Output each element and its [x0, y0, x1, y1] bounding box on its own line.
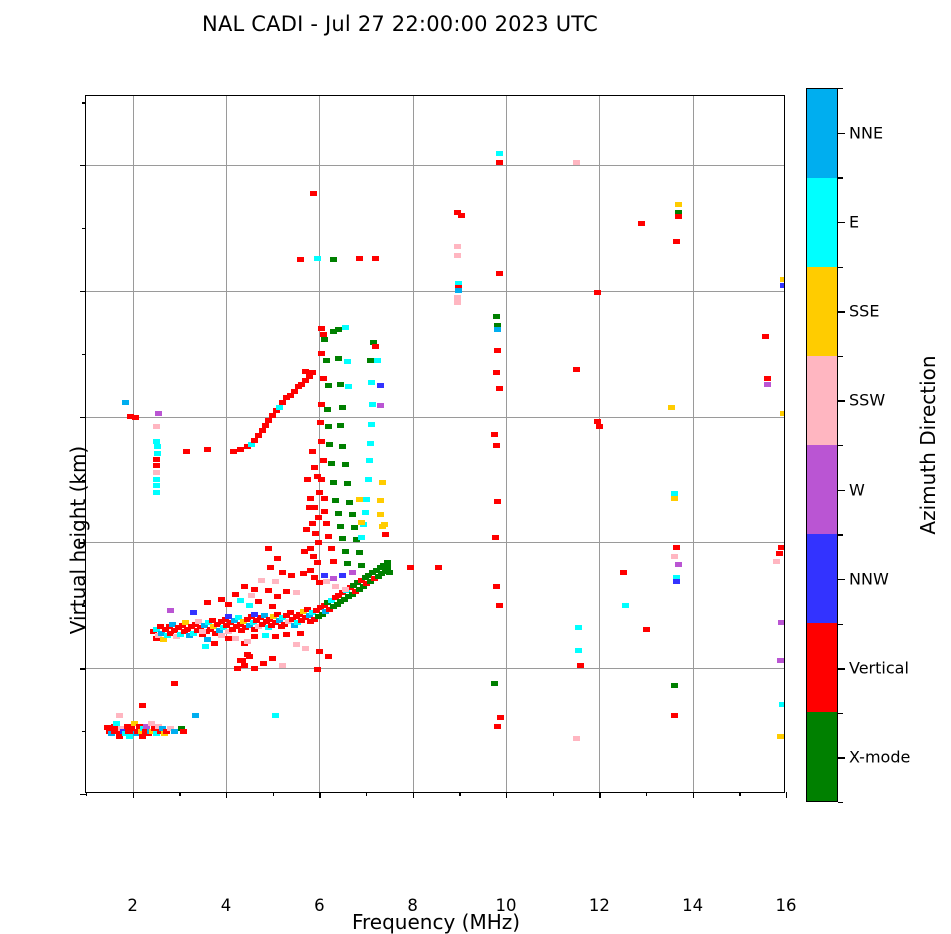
echo-point: [573, 160, 580, 165]
colorbar-divider: [838, 624, 843, 625]
echo-point: [260, 661, 267, 666]
echo-point: [320, 458, 327, 463]
echo-point: [777, 734, 784, 739]
colorbar-label: NNW: [849, 569, 889, 588]
colorbar-divider: [838, 713, 843, 714]
echo-point: [321, 573, 328, 578]
echo-point: [377, 512, 384, 517]
echo-point: [493, 443, 500, 448]
echo-point: [153, 463, 160, 468]
echo-point: [675, 562, 682, 567]
echo-point: [344, 481, 351, 486]
echo-point: [279, 663, 286, 668]
echo-point: [368, 422, 375, 427]
colorbar-divider: [838, 534, 843, 535]
echo-point: [311, 465, 318, 470]
echo-point: [497, 715, 504, 720]
echo-point: [139, 703, 146, 708]
echo-point: [780, 283, 784, 288]
echo-point: [671, 683, 678, 688]
colorbar-label: NNE: [849, 123, 883, 142]
echo-point: [675, 202, 682, 207]
echo-point: [496, 151, 503, 156]
x-axis-tick: [786, 792, 787, 798]
echo-point: [377, 403, 384, 408]
echo-point: [494, 327, 501, 332]
echo-point: [225, 614, 232, 619]
y-axis-tick: [80, 542, 86, 543]
echo-point: [367, 358, 374, 363]
echo-point: [316, 580, 323, 585]
echo-point: [374, 358, 381, 363]
echo-point: [153, 483, 160, 488]
echo-point: [573, 736, 580, 741]
echo-point: [234, 666, 241, 671]
echo-point: [211, 641, 218, 646]
echo-point: [314, 667, 321, 672]
colorbar-divider: [838, 267, 843, 268]
echo-point: [365, 477, 372, 482]
echo-point: [132, 415, 139, 420]
echo-point: [258, 578, 265, 583]
colorbar-divider: [838, 802, 843, 803]
echo-point: [435, 565, 442, 570]
echo-point: [493, 314, 500, 319]
echo-point: [496, 160, 503, 165]
colorbar-tick: [838, 222, 845, 223]
echo-point: [366, 458, 373, 463]
colorbar: [806, 88, 838, 802]
echo-point: [314, 474, 321, 479]
colorbar-label: Vertical: [849, 659, 909, 678]
echo-point: [454, 253, 461, 258]
echo-point: [777, 658, 784, 663]
echo-point: [218, 597, 225, 602]
echo-point: [330, 576, 337, 581]
echo-point: [379, 480, 386, 485]
echo-point: [491, 681, 498, 686]
echo-point: [259, 428, 266, 433]
y-axis-minor-tick: [82, 228, 86, 229]
echo-point: [455, 288, 462, 293]
echo-point: [330, 480, 337, 485]
echo-point: [493, 584, 500, 589]
echo-point: [494, 499, 501, 504]
echo-point: [776, 551, 783, 556]
echo-point: [311, 575, 318, 580]
colorbar-divider: [838, 445, 843, 446]
echo-point: [244, 639, 251, 644]
echo-point: [312, 531, 319, 536]
colorbar-divider: [838, 88, 843, 89]
echo-point: [377, 498, 384, 503]
echo-point: [349, 570, 356, 575]
echo-point: [382, 532, 389, 537]
echo-point: [575, 625, 582, 630]
echo-point: [218, 633, 225, 638]
colorbar-label: SSW: [849, 391, 885, 410]
y-axis-title: Virtual height (km): [66, 446, 90, 635]
echo-point: [407, 565, 414, 570]
echo-point: [309, 521, 316, 526]
y-axis-minor-tick: [82, 480, 86, 481]
echo-point: [297, 631, 304, 636]
echo-point: [339, 444, 346, 449]
echo-point: [337, 423, 344, 428]
echo-point: [363, 497, 370, 502]
echo-point: [328, 546, 335, 551]
echo-point: [377, 383, 384, 388]
echo-point: [315, 540, 322, 545]
colorbar-segment: [807, 267, 837, 356]
colorbar-tick: [838, 133, 845, 134]
colorbar-segment: [807, 445, 837, 534]
echo-point: [180, 729, 187, 734]
echo-point: [643, 627, 650, 632]
echo-point: [204, 600, 211, 605]
echo-point: [671, 713, 678, 718]
echo-point: [153, 439, 160, 444]
echo-point: [339, 536, 346, 541]
echo-point: [337, 382, 344, 387]
echo-point: [248, 593, 255, 598]
echo-point: [493, 370, 500, 375]
echo-point: [230, 449, 237, 454]
echo-point: [577, 663, 584, 668]
echo-point: [356, 497, 363, 502]
echo-point: [622, 603, 629, 608]
echo-point: [326, 442, 333, 447]
echo-point: [335, 511, 342, 516]
echo-point: [232, 592, 239, 597]
colorbar-label: SSE: [849, 302, 879, 321]
echo-point: [454, 300, 461, 305]
echo-point: [491, 432, 498, 437]
colorbar-segment: [807, 623, 837, 712]
echo-point: [300, 571, 307, 576]
x-axis-tick: [506, 792, 507, 798]
colorbar-tick: [838, 579, 845, 580]
echo-point: [339, 573, 346, 578]
colorbar-segment: [807, 534, 837, 623]
echo-point: [454, 244, 461, 249]
echo-point: [171, 729, 178, 734]
echo-point: [351, 525, 358, 530]
echo-point: [323, 521, 330, 526]
echo-point: [251, 612, 258, 617]
echo-point: [675, 214, 682, 219]
echo-point: [237, 598, 244, 603]
x-axis-tick-label: 14: [663, 896, 723, 915]
echo-point: [369, 402, 376, 407]
echo-point: [274, 594, 281, 599]
echo-point: [171, 681, 178, 686]
x-axis-tick: [599, 792, 600, 798]
echo-point: [372, 256, 379, 261]
echo-point: [116, 713, 123, 718]
echo-point: [773, 559, 780, 564]
colorbar-label: W: [849, 480, 865, 499]
echo-point: [325, 534, 332, 539]
echo-point: [262, 633, 269, 638]
colorbar-segment: [807, 712, 837, 801]
echo-point: [671, 554, 678, 559]
echo-point: [122, 400, 129, 405]
echo-point: [283, 589, 290, 594]
x-axis-tick: [226, 792, 227, 798]
echo-point: [192, 713, 199, 718]
echo-point: [246, 654, 253, 659]
echo-point: [320, 376, 327, 381]
echo-point: [673, 239, 680, 244]
echo-point: [283, 632, 290, 637]
colorbar-label: E: [849, 212, 859, 231]
colorbar-tick: [838, 311, 845, 312]
echo-point: [328, 461, 335, 466]
echo-point: [318, 351, 325, 356]
echo-point: [153, 424, 160, 429]
echo-point: [204, 637, 211, 642]
echo-point: [362, 510, 369, 515]
echo-point: [458, 213, 465, 218]
echo-point: [318, 326, 325, 331]
echo-point: [251, 666, 258, 671]
echo-point: [225, 602, 232, 607]
echo-point: [304, 477, 311, 482]
echo-point: [154, 451, 161, 456]
echo-point: [190, 610, 197, 615]
x-axis-minor-tick: [459, 792, 460, 796]
x-axis-tick-label: 2: [103, 896, 163, 915]
echo-point: [573, 367, 580, 372]
echo-point: [272, 713, 279, 718]
echo-point: [306, 505, 313, 510]
x-axis-minor-tick: [273, 792, 274, 796]
echo-point: [269, 604, 276, 609]
ionogram-plot-area: Virtual height (km) Frequency (MHz) 2468…: [85, 95, 785, 793]
y-axis-tick: [80, 668, 86, 669]
echo-point: [323, 579, 330, 584]
echo-point: [638, 221, 645, 226]
x-axis-minor-tick: [553, 792, 554, 796]
x-axis-tick: [413, 792, 414, 798]
echo-point: [335, 356, 342, 361]
echo-point: [496, 386, 503, 391]
echo-point: [780, 277, 784, 282]
echo-point: [155, 411, 162, 416]
echo-point: [342, 462, 349, 467]
y-axis-minor-tick: [82, 605, 86, 606]
echo-point: [272, 579, 279, 584]
echo-point: [316, 649, 323, 654]
echo-point: [762, 334, 769, 339]
echo-point: [673, 545, 680, 550]
echo-point: [381, 522, 388, 527]
echo-point: [183, 449, 190, 454]
echo-point: [241, 663, 248, 668]
echo-point: [594, 290, 601, 295]
echo-point: [764, 382, 771, 387]
echo-points-layer: [86, 96, 784, 792]
echo-point: [267, 565, 274, 570]
echo-point: [237, 447, 244, 452]
x-axis-tick-label: 6: [289, 896, 349, 915]
y-axis-tick: [80, 417, 86, 418]
echo-point: [307, 496, 314, 501]
x-axis-tick-label: 4: [196, 896, 256, 915]
echo-point: [332, 498, 339, 503]
colorbar-divider: [838, 177, 843, 178]
echo-point: [225, 636, 232, 641]
echo-point: [307, 568, 314, 573]
echo-point: [368, 380, 375, 385]
echo-point: [153, 490, 160, 495]
echo-point: [342, 587, 349, 592]
echo-point: [367, 441, 374, 446]
echo-point: [575, 648, 582, 653]
x-axis-minor-tick: [366, 792, 367, 796]
x-axis-minor-tick: [86, 792, 87, 796]
chart-title: NAL CADI - Jul 27 22:00:00 2023 UTC: [0, 12, 800, 36]
echo-point: [251, 438, 258, 443]
echo-point: [372, 344, 379, 349]
echo-point: [330, 559, 337, 564]
echo-point: [346, 500, 353, 505]
echo-point: [325, 424, 332, 429]
echo-point: [167, 608, 174, 613]
echo-point: [356, 256, 363, 261]
echo-point: [325, 654, 332, 659]
x-axis-tick-label: 10: [476, 896, 536, 915]
echo-point: [276, 405, 283, 410]
echo-point: [335, 327, 342, 332]
echo-point: [339, 405, 346, 410]
echo-point: [314, 560, 321, 565]
colorbar-title: Azimuth Direction: [916, 355, 940, 534]
echo-point: [302, 646, 309, 651]
colorbar-segment: [807, 356, 837, 445]
echo-point: [316, 490, 323, 495]
echo-point: [496, 271, 503, 276]
echo-point: [494, 724, 501, 729]
echo-point: [309, 370, 316, 375]
echo-point: [153, 457, 160, 462]
colorbar-tick: [838, 490, 845, 491]
echo-point: [265, 588, 272, 593]
echo-point: [349, 512, 356, 517]
echo-point: [279, 570, 286, 575]
x-axis-minor-tick: [646, 792, 647, 796]
x-axis-minor-tick: [179, 792, 180, 796]
echo-point: [279, 400, 286, 405]
echo-point: [154, 444, 161, 449]
y-axis-minor-tick: [82, 102, 86, 103]
y-axis-minor-tick: [82, 731, 86, 732]
x-axis-tick: [319, 792, 320, 798]
echo-point: [358, 520, 365, 525]
echo-point: [274, 556, 281, 561]
x-axis-tick-label: 12: [569, 896, 629, 915]
echo-point: [255, 599, 262, 604]
echo-point: [241, 584, 248, 589]
echo-point: [780, 411, 784, 416]
echo-point: [321, 496, 328, 501]
echo-point: [232, 636, 239, 641]
echo-point: [272, 634, 279, 639]
echo-point: [345, 384, 352, 389]
echo-point: [302, 369, 309, 374]
echo-point: [317, 420, 324, 425]
echo-point: [303, 527, 310, 532]
echo-point: [310, 554, 317, 559]
colorbar-label: X-mode: [849, 748, 910, 767]
echo-point: [297, 257, 304, 262]
y-axis-tick: [80, 165, 86, 166]
echo-point: [496, 603, 503, 608]
echo-point: [265, 418, 272, 423]
x-axis-minor-tick: [739, 792, 740, 796]
echo-point: [673, 579, 680, 584]
echo-point: [671, 496, 678, 501]
echo-point: [620, 570, 627, 575]
echo-point: [342, 325, 349, 330]
echo-point: [358, 535, 365, 540]
echo-point: [269, 413, 276, 418]
echo-point: [309, 449, 316, 454]
echo-point: [356, 550, 363, 555]
echo-point: [293, 642, 300, 647]
echo-point: [315, 515, 322, 520]
echo-point: [321, 337, 328, 342]
echo-point: [332, 584, 339, 589]
echo-point: [199, 629, 206, 634]
echo-point: [288, 573, 295, 578]
echo-point: [265, 546, 272, 551]
echo-point: [153, 477, 160, 482]
echo-point: [778, 545, 784, 550]
echo-point: [255, 433, 262, 438]
echo-point: [321, 509, 328, 514]
echo-point: [344, 561, 351, 566]
echo-point: [301, 549, 308, 554]
colorbar-segment: [807, 178, 837, 267]
echo-point: [779, 702, 784, 707]
echo-point: [325, 383, 332, 388]
colorbar-tick: [838, 400, 845, 401]
echo-point: [668, 405, 675, 410]
echo-point: [251, 634, 258, 639]
echo-point: [596, 424, 603, 429]
echo-point: [293, 590, 300, 595]
echo-point: [330, 257, 337, 262]
x-axis-tick: [693, 792, 694, 798]
echo-point: [358, 563, 365, 568]
y-axis-tick: [80, 794, 86, 795]
x-axis-tick: [133, 792, 134, 798]
y-axis-tick: [80, 291, 86, 292]
echo-point: [492, 535, 499, 540]
colorbar-tick: [838, 668, 845, 669]
echo-point: [386, 570, 393, 575]
y-axis-minor-tick: [82, 354, 86, 355]
echo-point: [246, 603, 253, 608]
echo-point: [269, 656, 276, 661]
echo-point: [494, 348, 501, 353]
colorbar-divider: [838, 356, 843, 357]
echo-point: [262, 423, 269, 428]
echo-point: [318, 439, 325, 444]
echo-point: [202, 644, 209, 649]
